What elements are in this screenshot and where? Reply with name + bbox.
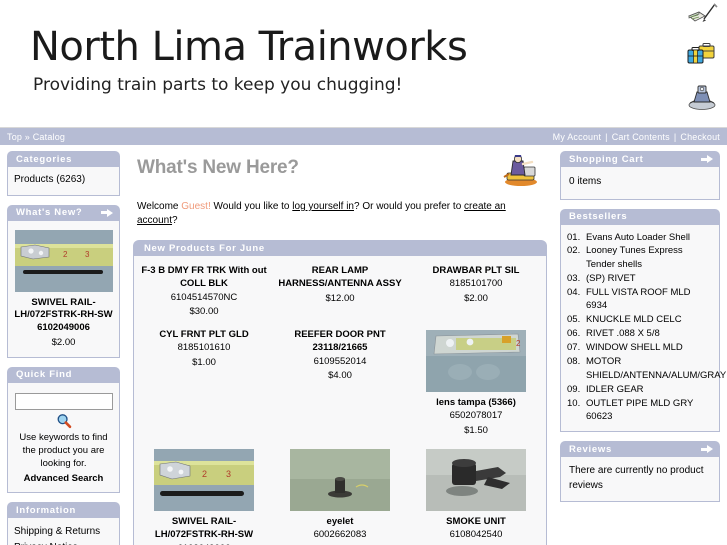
welcome-message: Welcome Guest! Would you like to log you… xyxy=(137,200,547,228)
bestsellers-box-header: Bestsellers xyxy=(560,209,720,225)
categories-box-header: Categories xyxy=(7,151,120,167)
product-grid: F-3 B DMY FR TRK With out COLL BLK 61045… xyxy=(136,262,544,545)
product-price: $30.00 xyxy=(140,305,268,318)
bestseller-link[interactable]: MOTOR SHIELD/ANTENNA/ALUM/GRAY xyxy=(586,356,726,380)
shopping-cart-box-header: Shopping Cart xyxy=(560,151,720,167)
product-model: 6109552014 xyxy=(276,355,404,368)
logo-tagline: Providing train parts to keep you chuggi… xyxy=(33,75,467,95)
welcome-mid-2: ? Or would you prefer to xyxy=(354,201,461,212)
product-name[interactable]: DRAWBAR PLT SIL xyxy=(412,264,540,277)
reviews-box: Reviews There are currently no product r… xyxy=(560,441,720,502)
cart-item-count: 0 items xyxy=(567,173,713,192)
nav-link-cart-contents[interactable]: Cart Contents xyxy=(612,132,670,142)
reviews-box-header: Reviews xyxy=(560,441,720,457)
new-products-box-header: New Products For June xyxy=(133,240,547,256)
logo-title: North Lima Trainworks xyxy=(30,26,467,68)
whats-new-product-price: $2.00 xyxy=(14,336,113,350)
bestseller-link[interactable]: RIVET .088 X 5/8 xyxy=(586,328,660,339)
list-item[interactable]: 06.RIVET .088 X 5/8 xyxy=(567,327,713,340)
bestseller-rank: 02. xyxy=(567,244,586,257)
product-model: 6108042540 xyxy=(412,528,540,541)
site-header: North Lima Trainworks Providing train pa… xyxy=(0,0,727,128)
product-model: 6104514570NC xyxy=(140,291,268,304)
information-box-header: Information xyxy=(7,502,120,518)
list-item[interactable]: 02.Looney Tunes Express Tender shells xyxy=(567,244,713,271)
bestsellers-box: Bestsellers 01.Evans Auto Loader Shell 0… xyxy=(560,209,720,433)
arrow-right-icon[interactable] xyxy=(101,209,114,217)
product-image-eyelet[interactable] xyxy=(290,449,390,511)
categories-box-body: Products (6263) xyxy=(7,167,120,196)
bestseller-rank: 01. xyxy=(567,231,586,244)
list-item[interactable]: 04.FULL VISTA ROOF MLD 6934 xyxy=(567,286,713,313)
nav-links: My Account|Cart Contents|Checkout xyxy=(553,132,720,142)
site-logo[interactable]: North Lima Trainworks Providing train pa… xyxy=(30,26,467,95)
list-item[interactable]: 09.IDLER GEAR xyxy=(567,383,713,396)
quick-find-box-header: Quick Find xyxy=(7,367,120,383)
product-model: 8185101700 xyxy=(412,277,540,290)
breadcrumb[interactable]: Top » Catalog xyxy=(7,132,65,142)
page-body: Categories Products (6263) What's New? xyxy=(0,145,727,545)
categories-box-title: Categories xyxy=(16,154,72,165)
reviews-empty-text: There are currently no product reviews xyxy=(567,463,713,494)
whats-new-product-name[interactable]: SWIVEL RAIL-LH/072FSTRK-RH-SW xyxy=(14,297,113,323)
welcome-prefix: Welcome xyxy=(137,201,179,212)
bestseller-rank: 07. xyxy=(567,341,586,354)
info-link-shipping-returns[interactable]: Shipping & Returns xyxy=(14,524,113,540)
welcome-suffix: ? xyxy=(172,215,178,226)
quick-find-box: Quick Find Use keywords to find the prod… xyxy=(7,367,120,494)
product-cell: eyelet 6002662083 $1.00 xyxy=(272,445,408,545)
list-item[interactable]: 01.Evans Auto Loader Shell xyxy=(567,231,713,244)
whats-new-product-model: 6102049006 xyxy=(14,322,113,335)
list-item[interactable]: 05.KNUCKLE MLD CELC xyxy=(567,313,713,326)
new-products-box-title: New Products For June xyxy=(144,243,265,254)
info-link-privacy-notice[interactable]: Privacy Notice xyxy=(14,540,113,545)
whats-new-header-icon xyxy=(499,153,543,187)
bestseller-link[interactable]: WINDOW SHELL MLD xyxy=(586,342,683,353)
product-price: $12.00 xyxy=(276,292,404,305)
information-box-title: Information xyxy=(16,505,76,516)
nav-separator-2: | xyxy=(670,132,681,142)
new-products-box-body: F-3 B DMY FR TRK With out COLL BLK 61045… xyxy=(133,256,547,545)
whats-new-box: What's New? 2 3 xyxy=(7,205,120,358)
quick-find-box-title: Quick Find xyxy=(16,369,72,380)
bestsellers-box-title: Bestsellers xyxy=(569,211,627,222)
right-sidebar: Shopping Cart 0 items Bestsellers 01.Eva… xyxy=(555,145,727,511)
category-link-products[interactable]: Products (6263) xyxy=(14,174,85,185)
whats-new-box-body: 2 3 SWIVEL RAIL-LH/072FSTRK-RH-SW 610204… xyxy=(7,221,120,358)
left-sidebar: Categories Products (6263) What's New? xyxy=(0,145,125,545)
shopping-cart-box-title: Shopping Cart xyxy=(569,154,644,165)
product-price: $1.00 xyxy=(140,356,268,369)
main-content: What's New Here? Welcome Guest! Would yo… xyxy=(125,145,555,545)
reviews-box-title: Reviews xyxy=(569,444,612,455)
bestseller-rank: 08. xyxy=(567,355,586,368)
product-name[interactable]: eyelet xyxy=(276,515,404,528)
bestsellers-box-body: 01.Evans Auto Loader Shell 02.Looney Tun… xyxy=(560,225,720,433)
product-cell: DRAWBAR PLT SIL 8185101700 $2.00 xyxy=(408,262,544,324)
bestseller-link[interactable]: Looney Tunes Express Tender shells xyxy=(586,245,683,269)
information-box: Information Shipping & Returns Privacy N… xyxy=(7,502,120,545)
cart-contents-icon[interactable] xyxy=(685,40,719,70)
reviews-box-body: There are currently no product reviews xyxy=(560,457,720,502)
product-cell: F-3 B DMY FR TRK With out COLL BLK 61045… xyxy=(136,262,272,324)
product-name[interactable]: F-3 B DMY FR TRK With out COLL BLK xyxy=(140,264,268,291)
bestseller-link[interactable]: OUTLET PIPE MLD GRY 60623 xyxy=(586,398,693,422)
svg-text:2: 2 xyxy=(516,339,521,348)
product-name[interactable]: CYL FRNT PLT GLD xyxy=(140,328,268,341)
bestseller-link[interactable]: KNUCKLE MLD CELC xyxy=(586,314,682,325)
product-model: 6002662083 xyxy=(276,528,404,541)
shopping-cart-box-body: 0 items xyxy=(560,167,720,200)
bestseller-rank: 05. xyxy=(567,313,586,326)
welcome-mid-1: Would you like to xyxy=(214,201,290,212)
svg-text:2: 2 xyxy=(202,469,207,479)
guest-name: Guest! xyxy=(181,201,210,212)
product-model: 8185101610 xyxy=(140,341,268,354)
product-image-lens-tampa[interactable]: 2 xyxy=(426,330,526,392)
product-price: $4.00 xyxy=(276,369,404,382)
product-image-smoke-unit[interactable] xyxy=(426,449,526,511)
svg-text:2: 2 xyxy=(63,250,68,259)
svg-text:3: 3 xyxy=(85,250,90,259)
whats-new-box-header: What's New? xyxy=(7,205,120,221)
advanced-search-link[interactable]: Advanced Search xyxy=(14,472,113,486)
bestseller-link[interactable]: FULL VISTA ROOF MLD 6934 xyxy=(586,287,691,311)
navigation-bar: Top » Catalog My Account|Cart Contents|C… xyxy=(0,128,727,145)
shopping-cart-box: Shopping Cart 0 items xyxy=(560,151,720,200)
checkout-icon[interactable] xyxy=(685,82,719,112)
product-name[interactable]: REEFER DOOR PNT 23118/21665 xyxy=(276,328,404,355)
list-item[interactable]: 07.WINDOW SHELL MLD xyxy=(567,341,713,354)
nav-separator-1: | xyxy=(601,132,612,142)
bestseller-rank: 09. xyxy=(567,383,586,396)
new-products-box: New Products For June F-3 B DMY FR TRK W… xyxy=(133,240,547,545)
search-input[interactable] xyxy=(15,393,113,410)
product-price: $1.50 xyxy=(412,424,540,437)
bestseller-rank: 10. xyxy=(567,397,586,410)
bestseller-link[interactable]: (SP) RIVET xyxy=(586,273,636,284)
product-cell: REEFER DOOR PNT 23118/21665 6109552014 $… xyxy=(272,326,408,443)
list-item[interactable]: 10.OUTLET PIPE MLD GRY 60623 xyxy=(567,397,713,424)
bestseller-rank: 06. xyxy=(567,327,586,340)
categories-box: Categories Products (6263) xyxy=(7,151,120,196)
quick-find-help-text: Use keywords to find the product you are… xyxy=(14,431,113,471)
quick-find-box-body: Use keywords to find the product you are… xyxy=(7,383,120,494)
nav-link-my-account[interactable]: My Account xyxy=(553,132,602,142)
whats-new-product-image[interactable]: 2 3 xyxy=(15,230,113,292)
page-title: What's New Here? xyxy=(137,157,299,179)
product-cell: REAR LAMP HARNESS/ANTENNA ASSY $12.00 xyxy=(272,262,408,324)
list-item[interactable]: 03.(SP) RIVET xyxy=(567,272,713,285)
list-item[interactable]: 08.MOTOR SHIELD/ANTENNA/ALUM/GRAY xyxy=(567,355,713,382)
product-cell: SMOKE UNIT 6108042540 $10.00 xyxy=(408,445,544,545)
login-link[interactable]: log yourself in xyxy=(292,201,354,212)
product-cell: 2 lens tampa (5366) 6502078017 $1.50 xyxy=(408,326,544,443)
product-model: 6502078017 xyxy=(412,409,540,422)
page-title-row: What's New Here? xyxy=(133,155,547,187)
product-name[interactable]: SWIVEL RAIL-LH/072FSTRK-RH-SW xyxy=(140,515,268,542)
product-image-swivel-rail[interactable]: 2 3 xyxy=(154,449,254,511)
bestsellers-list: 01.Evans Auto Loader Shell 02.Looney Tun… xyxy=(567,231,713,424)
search-icon[interactable] xyxy=(56,413,72,429)
bestseller-link[interactable]: Evans Auto Loader Shell xyxy=(586,232,690,243)
bestseller-rank: 04. xyxy=(567,286,586,299)
arrow-right-icon[interactable] xyxy=(701,155,714,163)
nav-link-checkout[interactable]: Checkout xyxy=(680,132,720,142)
arrow-right-icon[interactable] xyxy=(701,445,714,453)
product-cell: CYL FRNT PLT GLD 8185101610 $1.00 xyxy=(136,326,272,443)
my-account-icon[interactable] xyxy=(685,2,719,32)
product-name[interactable]: SMOKE UNIT xyxy=(412,515,540,528)
bestseller-rank: 03. xyxy=(567,272,586,285)
bestseller-link[interactable]: IDLER GEAR xyxy=(586,384,644,395)
product-name[interactable]: REAR LAMP HARNESS/ANTENNA ASSY xyxy=(276,264,404,291)
svg-text:3: 3 xyxy=(226,469,231,479)
information-box-body: Shipping & Returns Privacy Notice Condit… xyxy=(7,518,120,545)
product-cell: 2 3 SWIVEL RAIL-LH/072FSTRK-RH-SW 610204… xyxy=(136,445,272,545)
product-price: $2.00 xyxy=(412,292,540,305)
whats-new-box-title: What's New? xyxy=(16,207,82,218)
product-name[interactable]: lens tampa (5366) xyxy=(412,396,540,409)
